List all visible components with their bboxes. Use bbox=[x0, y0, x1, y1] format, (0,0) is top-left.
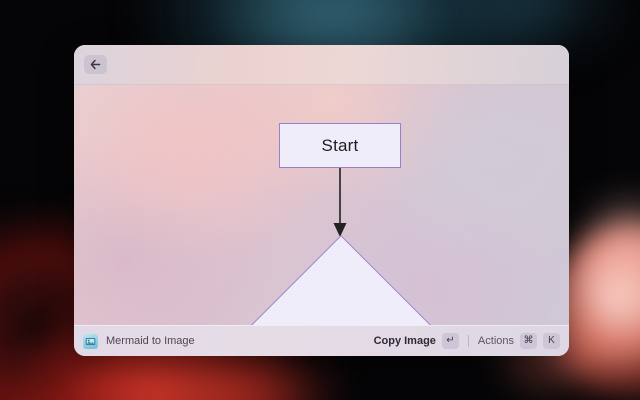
app-window: Start Is it working? bbox=[74, 45, 569, 356]
mermaid-image-icon bbox=[83, 334, 98, 349]
desktop-wallpaper: Start Is it working? bbox=[0, 0, 640, 400]
footer-actions: Copy Image ↵ Actions ⌘ K bbox=[374, 333, 560, 349]
mermaid-flowchart: Start Is it working? bbox=[74, 85, 569, 325]
arrow-left-icon bbox=[90, 59, 101, 70]
k-key-badge[interactable]: K bbox=[543, 333, 560, 349]
flow-node-start-label: Start bbox=[322, 136, 359, 156]
window-footer: Mermaid to Image Copy Image ↵ Actions ⌘ … bbox=[74, 325, 569, 356]
actions-label[interactable]: Actions bbox=[478, 335, 514, 347]
footer-separator bbox=[468, 335, 469, 347]
copy-image-label[interactable]: Copy Image bbox=[374, 335, 436, 347]
flow-node-start[interactable]: Start bbox=[279, 123, 401, 168]
footer-app-title: Mermaid to Image bbox=[106, 335, 195, 347]
wallpaper-blob-pink-b bbox=[570, 190, 640, 320]
back-button[interactable] bbox=[84, 55, 107, 74]
enter-key-badge[interactable]: ↵ bbox=[442, 333, 459, 349]
flow-node-decision-label: Is it working? bbox=[244, 237, 438, 325]
footer-app-identity: Mermaid to Image bbox=[83, 334, 374, 349]
diagram-canvas[interactable]: Start Is it working? bbox=[74, 85, 569, 325]
flow-node-decision[interactable]: Is it working? bbox=[244, 237, 438, 325]
command-key-badge[interactable]: ⌘ bbox=[520, 333, 537, 349]
window-titlebar bbox=[74, 45, 569, 85]
